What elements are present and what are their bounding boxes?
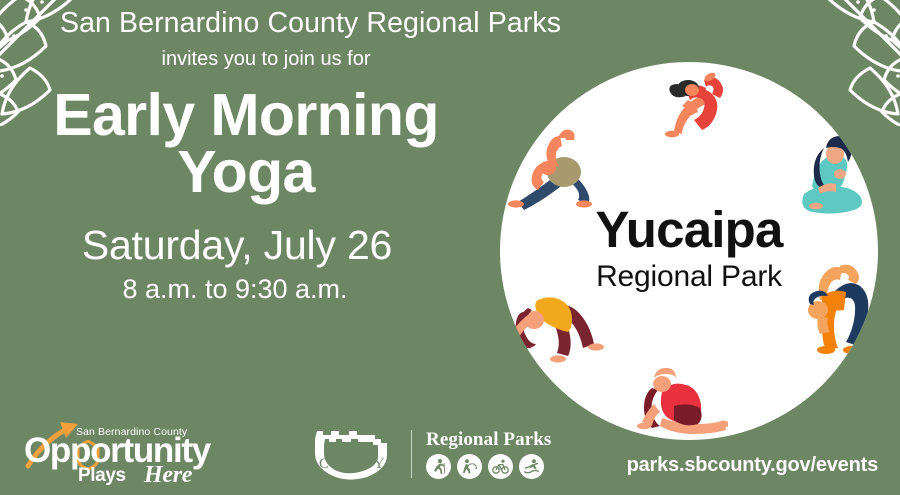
event-title-line1: Early Morning — [53, 82, 439, 148]
regional-parks-icon-row — [426, 454, 551, 479]
events-url[interactable]: parks.sbcounty.gov/events — [627, 454, 878, 477]
organization-name: San Bernardino County Regional Parks — [0, 6, 496, 42]
opportunity-plays-here-logo: San Bernardino County Opportunity Plays … — [22, 420, 222, 490]
county-seal-line2: COUNTY — [319, 457, 383, 473]
hiking-icon — [426, 454, 451, 479]
park-name-circle: Yucaipa Regional Park — [500, 62, 878, 440]
opportunity-plays-text: Plays — [78, 465, 126, 487]
boating-icon — [519, 454, 544, 479]
county-seal-line1: SAN BERNARDINO — [319, 442, 383, 457]
county-regional-parks-lockup: SAN BERNARDINO COUNTY Regional Parks — [305, 425, 551, 483]
flyer-canvas: San Bernardino County Regional Parks inv… — [0, 0, 900, 495]
yoga-figure-left-lower — [508, 292, 608, 366]
footer-bar: San Bernardino County Opportunity Plays … — [0, 415, 900, 495]
regional-parks-block: Regional Parks — [426, 429, 551, 479]
county-seal-text: SAN BERNARDINO COUNTY — [319, 442, 383, 473]
invitation-line: invites you to join us for — [0, 48, 496, 71]
park-type-label: Regional Park — [500, 260, 878, 294]
park-city-name: Yucaipa — [500, 204, 878, 255]
lockup-divider — [411, 430, 412, 478]
yoga-figure-top — [648, 66, 736, 146]
park-name-label: Yucaipa Regional Park — [500, 204, 878, 294]
fishing-icon — [457, 454, 482, 479]
regional-parks-title: Regional Parks — [426, 429, 551, 451]
county-seal-logo: SAN BERNARDINO COUNTY — [305, 425, 397, 483]
event-time: 8 a.m. to 9:30 a.m. — [0, 274, 496, 305]
event-title: Early Morning Yoga — [0, 87, 496, 201]
cycling-icon — [488, 454, 513, 479]
opportunity-here-text: Here — [144, 462, 192, 489]
event-title-line2: Yoga — [0, 144, 492, 201]
event-text-column: San Bernardino County Regional Parks inv… — [0, 0, 496, 410]
event-date: Saturday, July 26 — [0, 222, 496, 269]
